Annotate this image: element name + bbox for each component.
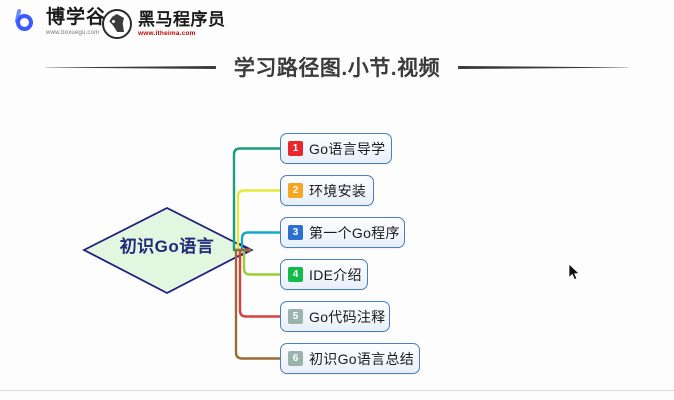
mindmap-canvas: 初识Go语言 1Go语言导学2环境安装3第一个Go程序4IDE介绍5Go代码注释… (0, 0, 674, 400)
connector-to-node-4 (244, 250, 280, 275)
mindmap-node-2[interactable]: 2环境安装 (280, 175, 374, 206)
mindmap-node-6[interactable]: 6初识Go语言总结 (280, 343, 420, 374)
node-label: 第一个Go程序 (309, 223, 400, 243)
node-label: 初识Go语言总结 (309, 349, 414, 369)
node-label: Go语言导学 (309, 139, 385, 159)
connector-to-node-6 (236, 250, 280, 359)
node-number-badge: 4 (288, 267, 303, 282)
node-label: 环境安装 (309, 181, 366, 201)
connector-to-node-2 (238, 191, 280, 251)
mindmap-node-5[interactable]: 5Go代码注释 (280, 301, 390, 332)
bottom-divider (0, 390, 674, 391)
mindmap-node-4[interactable]: 4IDE介绍 (280, 259, 368, 290)
connector-to-node-5 (240, 250, 280, 317)
root-diamond-shape (84, 208, 250, 293)
node-number-badge: 5 (288, 309, 303, 324)
node-number-badge: 2 (288, 183, 303, 198)
node-number-badge: 1 (288, 141, 303, 156)
node-number-badge: 6 (288, 351, 303, 366)
mindmap-node-3[interactable]: 3第一个Go程序 (280, 217, 405, 248)
connector-to-node-1 (234, 149, 280, 251)
node-number-badge: 3 (288, 225, 303, 240)
node-label: Go代码注释 (309, 307, 385, 327)
mindmap-node-1[interactable]: 1Go语言导学 (280, 133, 392, 164)
node-label: IDE介绍 (309, 265, 362, 285)
